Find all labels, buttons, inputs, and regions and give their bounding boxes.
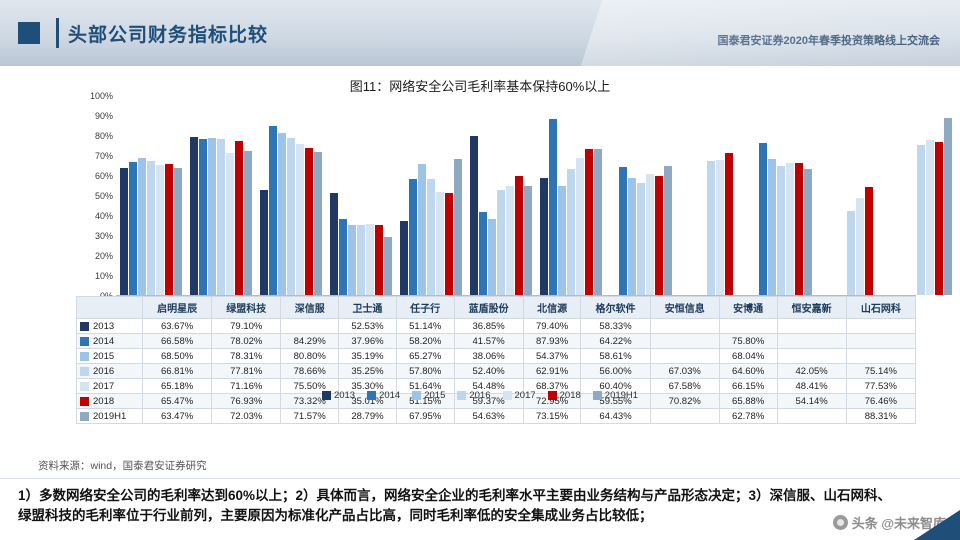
bar-group xyxy=(746,95,816,295)
table-cell: 66.81% xyxy=(143,364,212,379)
table-cell: 79.10% xyxy=(212,319,281,334)
table-cell: 64.60% xyxy=(719,364,777,379)
y-tick-label: 10% xyxy=(95,271,113,281)
bar xyxy=(208,138,216,295)
chart-card: 图11：网络安全公司毛利率基本保持60%以上 100%90%80%70%60%5… xyxy=(36,68,924,413)
bar-group xyxy=(676,95,746,295)
table-column-header: 启明星辰 xyxy=(143,297,212,319)
bar xyxy=(287,138,295,295)
legend-label: 2017 xyxy=(515,390,536,401)
bar xyxy=(366,224,374,295)
bar xyxy=(339,219,347,295)
table-cell: 84.29% xyxy=(281,334,339,349)
bar xyxy=(348,225,356,295)
table-column-header: 恒安嘉新 xyxy=(777,297,846,319)
table-cell: 63.67% xyxy=(143,319,212,334)
table-cell xyxy=(846,349,915,364)
bar xyxy=(488,219,496,295)
legend-item: 2014 xyxy=(367,390,400,401)
y-tick-label: 70% xyxy=(95,151,113,161)
corner-decoration xyxy=(914,510,960,540)
table-cell: 64.43% xyxy=(581,409,650,424)
bar xyxy=(549,119,557,295)
bar xyxy=(664,166,672,295)
bar xyxy=(847,211,855,295)
bar xyxy=(129,162,137,295)
legend-item: 2015 xyxy=(412,390,445,401)
table-cell: 58.20% xyxy=(396,334,454,349)
plot-grid-area xyxy=(116,96,916,296)
y-tick-label: 90% xyxy=(95,111,113,121)
data-table-body: 启明星辰绿盟科技深信服卫士通任子行蓝盾股份北信源格尔软件安恒信息安博通恒安嘉新山… xyxy=(77,297,916,424)
bar-group xyxy=(116,95,186,295)
table-cell xyxy=(281,319,339,334)
series-color-swatch-icon xyxy=(80,352,89,361)
table-cell: 56.00% xyxy=(581,364,650,379)
bar xyxy=(330,193,338,295)
table-cell: 63.47% xyxy=(143,409,212,424)
bar xyxy=(278,133,286,295)
bar xyxy=(558,186,566,295)
bar xyxy=(524,186,532,295)
table-cell: 42.05% xyxy=(777,364,846,379)
table-row: 201666.81%77.81%78.66%35.25%57.80%52.40%… xyxy=(77,364,916,379)
bar xyxy=(138,158,146,295)
table-cell: 68.04% xyxy=(719,349,777,364)
header-square-decoration xyxy=(18,22,40,44)
bar xyxy=(944,118,952,295)
legend-color-swatch-icon xyxy=(322,391,331,400)
chart-legend: 2013201420152016201720182019H1 xyxy=(36,390,924,401)
table-row-label: 2014 xyxy=(77,334,143,349)
table-cell: 51.14% xyxy=(396,319,454,334)
table-header-row: 启明星辰绿盟科技深信服卫士通任子行蓝盾股份北信源格尔软件安恒信息安博通恒安嘉新山… xyxy=(77,297,916,319)
table-cell: 52.40% xyxy=(454,364,523,379)
table-cell: 58.61% xyxy=(581,349,650,364)
table-cell xyxy=(777,349,846,364)
table-cell xyxy=(650,409,719,424)
bar xyxy=(174,168,182,295)
bar xyxy=(296,144,304,295)
table-column-header: 安恒信息 xyxy=(650,297,719,319)
bar xyxy=(865,187,873,295)
table-cell: 75.14% xyxy=(846,364,915,379)
bar xyxy=(165,164,173,295)
bar xyxy=(628,178,636,295)
table-column-header: 绿盟科技 xyxy=(212,297,281,319)
table-column-header: 卫士通 xyxy=(339,297,397,319)
bar-group xyxy=(816,95,886,295)
y-tick-label: 50% xyxy=(95,191,113,201)
y-tick-label: 20% xyxy=(95,251,113,261)
bar xyxy=(515,176,523,295)
table-cell xyxy=(650,349,719,364)
y-tick-label: 30% xyxy=(95,231,113,241)
table-cell: 28.79% xyxy=(339,409,397,424)
table-row-label: 2015 xyxy=(77,349,143,364)
legend-label: 2013 xyxy=(334,390,355,401)
table-cell xyxy=(719,319,777,334)
table-cell xyxy=(846,334,915,349)
bar xyxy=(235,141,243,295)
bar-group xyxy=(606,95,676,295)
table-column-header: 北信源 xyxy=(523,297,581,319)
bar xyxy=(637,183,645,295)
series-color-swatch-icon xyxy=(80,337,89,346)
legend-color-swatch-icon xyxy=(548,391,557,400)
bar xyxy=(777,166,785,295)
bar xyxy=(804,169,812,295)
table-cell: 68.50% xyxy=(143,349,212,364)
table-cell: 78.02% xyxy=(212,334,281,349)
bar-group xyxy=(256,95,326,295)
table-row-label: 2019H1 xyxy=(77,409,143,424)
bar xyxy=(120,168,128,295)
table-cell: 71.57% xyxy=(281,409,339,424)
legend-color-swatch-icon xyxy=(457,391,466,400)
table-cell xyxy=(777,319,846,334)
bar xyxy=(716,160,724,295)
bar-group xyxy=(326,95,396,295)
table-cell xyxy=(650,334,719,349)
table-row: 201466.58%78.02%84.29%37.96%58.20%41.57%… xyxy=(77,334,916,349)
table-cell xyxy=(777,334,846,349)
table-cell: 35.19% xyxy=(339,349,397,364)
bar xyxy=(314,152,322,295)
bar xyxy=(357,225,365,296)
table-cell: 64.22% xyxy=(581,334,650,349)
bar xyxy=(655,176,663,295)
legend-color-swatch-icon xyxy=(593,391,602,400)
bar xyxy=(795,163,803,295)
table-row: 201568.50%78.31%80.80%35.19%65.27%38.06%… xyxy=(77,349,916,364)
bar xyxy=(506,186,514,295)
bar xyxy=(619,167,627,295)
bar xyxy=(585,149,593,295)
table-cell: 52.53% xyxy=(339,319,397,334)
table-column-header: 山石网科 xyxy=(846,297,915,319)
table-row: 201363.67%79.10%52.53%51.14%36.85%79.40%… xyxy=(77,319,916,334)
bar xyxy=(269,126,277,295)
table-cell xyxy=(650,319,719,334)
table-cell: 80.80% xyxy=(281,349,339,364)
bar xyxy=(199,139,207,295)
table-cell: 35.25% xyxy=(339,364,397,379)
table-cell: 87.93% xyxy=(523,334,581,349)
table-cell: 57.80% xyxy=(396,364,454,379)
legend-item: 2019H1 xyxy=(593,390,638,401)
legend-label: 2019H1 xyxy=(605,390,638,401)
y-axis-tick-labels: 100%90%80%70%60%50%40%30%20%10%0% xyxy=(76,96,116,296)
bar xyxy=(707,161,715,295)
table-cell: 77.81% xyxy=(212,364,281,379)
bar xyxy=(305,148,313,295)
table-cell: 62.78% xyxy=(719,409,777,424)
chart-plot-area: 100%90%80%70%60%50%40%30%20%10%0% xyxy=(76,96,916,296)
y-tick-label: 100% xyxy=(90,91,113,101)
bar xyxy=(540,178,548,295)
header-event-label: 国泰君安证券2020年春季投资策略线上交流会 xyxy=(718,32,940,48)
legend-item: 2016 xyxy=(457,390,490,401)
table-cell: 72.03% xyxy=(212,409,281,424)
bar xyxy=(226,153,234,295)
bar xyxy=(917,145,925,295)
data-table: 启明星辰绿盟科技深信服卫士通任子行蓝盾股份北信源格尔软件安恒信息安博通恒安嘉新山… xyxy=(76,296,916,424)
bar-group xyxy=(186,95,256,295)
bar xyxy=(147,161,155,295)
bar xyxy=(427,179,435,295)
legend-label: 2018 xyxy=(560,390,581,401)
slide-body-text: 1）多数网络安全公司的毛利率达到60%以上；2）具体而言，网络安全企业的毛利率水… xyxy=(18,486,898,525)
legend-item: 2013 xyxy=(322,390,355,401)
y-tick-label: 80% xyxy=(95,131,113,141)
table-cell: 67.03% xyxy=(650,364,719,379)
bar xyxy=(260,190,268,295)
series-color-swatch-icon xyxy=(80,367,89,376)
bar xyxy=(156,165,164,295)
y-tick-label: 60% xyxy=(95,171,113,181)
y-tick-label: 40% xyxy=(95,211,113,221)
header-divider-bar xyxy=(56,18,59,48)
series-color-swatch-icon xyxy=(80,412,89,421)
table-cell xyxy=(777,409,846,424)
legend-item: 2017 xyxy=(503,390,536,401)
table-cell: 78.31% xyxy=(212,349,281,364)
bar-group xyxy=(536,95,606,295)
bar xyxy=(935,142,943,295)
bar xyxy=(594,149,602,295)
bar xyxy=(725,153,733,295)
bar xyxy=(768,159,776,295)
table-cell: 78.66% xyxy=(281,364,339,379)
bar xyxy=(759,143,767,295)
table-cell: 88.31% xyxy=(846,409,915,424)
legend-item: 2018 xyxy=(548,390,581,401)
table-cell: 38.06% xyxy=(454,349,523,364)
bar-groups xyxy=(116,95,916,295)
bar xyxy=(190,137,198,295)
bar xyxy=(567,169,575,295)
bar xyxy=(479,212,487,295)
table-cell: 62.91% xyxy=(523,364,581,379)
source-note: 资料来源：wind，国泰君安证券研究 xyxy=(38,458,207,473)
bar xyxy=(497,190,505,295)
table-corner-cell xyxy=(77,297,143,319)
table-column-header: 蓝盾股份 xyxy=(454,297,523,319)
page-title: 头部公司财务指标比较 xyxy=(68,20,268,47)
table-cell: 79.40% xyxy=(523,319,581,334)
legend-color-swatch-icon xyxy=(367,391,376,400)
watermark-logo-icon xyxy=(833,515,848,530)
bar xyxy=(217,139,225,295)
bar xyxy=(470,136,478,295)
table-cell xyxy=(846,319,915,334)
table-cell: 67.95% xyxy=(396,409,454,424)
bar xyxy=(375,225,383,295)
bar xyxy=(786,163,794,295)
bar xyxy=(409,179,417,295)
bar-group xyxy=(396,95,466,295)
table-cell: 75.80% xyxy=(719,334,777,349)
table-cell: 58.33% xyxy=(581,319,650,334)
table-column-header: 任子行 xyxy=(396,297,454,319)
bar xyxy=(384,237,392,295)
bar-group xyxy=(466,95,536,295)
bar xyxy=(436,192,444,295)
legend-label: 2014 xyxy=(379,390,400,401)
legend-label: 2015 xyxy=(424,390,445,401)
footer-divider xyxy=(0,478,960,479)
legend-label: 2016 xyxy=(469,390,490,401)
chart-title: 图11：网络安全公司毛利率基本保持60%以上 xyxy=(36,76,924,95)
series-color-swatch-icon xyxy=(80,322,89,331)
table-cell: 73.15% xyxy=(523,409,581,424)
table-cell: 66.58% xyxy=(143,334,212,349)
table-row-label: 2016 xyxy=(77,364,143,379)
table-row: 2019H163.47%72.03%71.57%28.79%67.95%54.6… xyxy=(77,409,916,424)
bar xyxy=(646,174,654,295)
bar xyxy=(926,140,934,295)
bar xyxy=(400,221,408,295)
table-column-header: 格尔软件 xyxy=(581,297,650,319)
legend-color-swatch-icon xyxy=(412,391,421,400)
bar xyxy=(418,164,426,295)
slide-header: 头部公司财务指标比较 国泰君安证券2020年春季投资策略线上交流会 xyxy=(0,0,960,66)
table-cell: 36.85% xyxy=(454,319,523,334)
table-column-header: 安博通 xyxy=(719,297,777,319)
table-cell: 54.37% xyxy=(523,349,581,364)
table-column-header: 深信服 xyxy=(281,297,339,319)
bar xyxy=(244,151,252,295)
legend-color-swatch-icon xyxy=(503,391,512,400)
bar xyxy=(856,198,864,295)
bar xyxy=(454,159,462,295)
table-cell: 54.63% xyxy=(454,409,523,424)
table-cell: 41.57% xyxy=(454,334,523,349)
bar xyxy=(445,193,453,295)
table-cell: 65.27% xyxy=(396,349,454,364)
bar-group xyxy=(886,95,956,295)
table-cell: 37.96% xyxy=(339,334,397,349)
table-row-label: 2013 xyxy=(77,319,143,334)
bar xyxy=(576,158,584,295)
